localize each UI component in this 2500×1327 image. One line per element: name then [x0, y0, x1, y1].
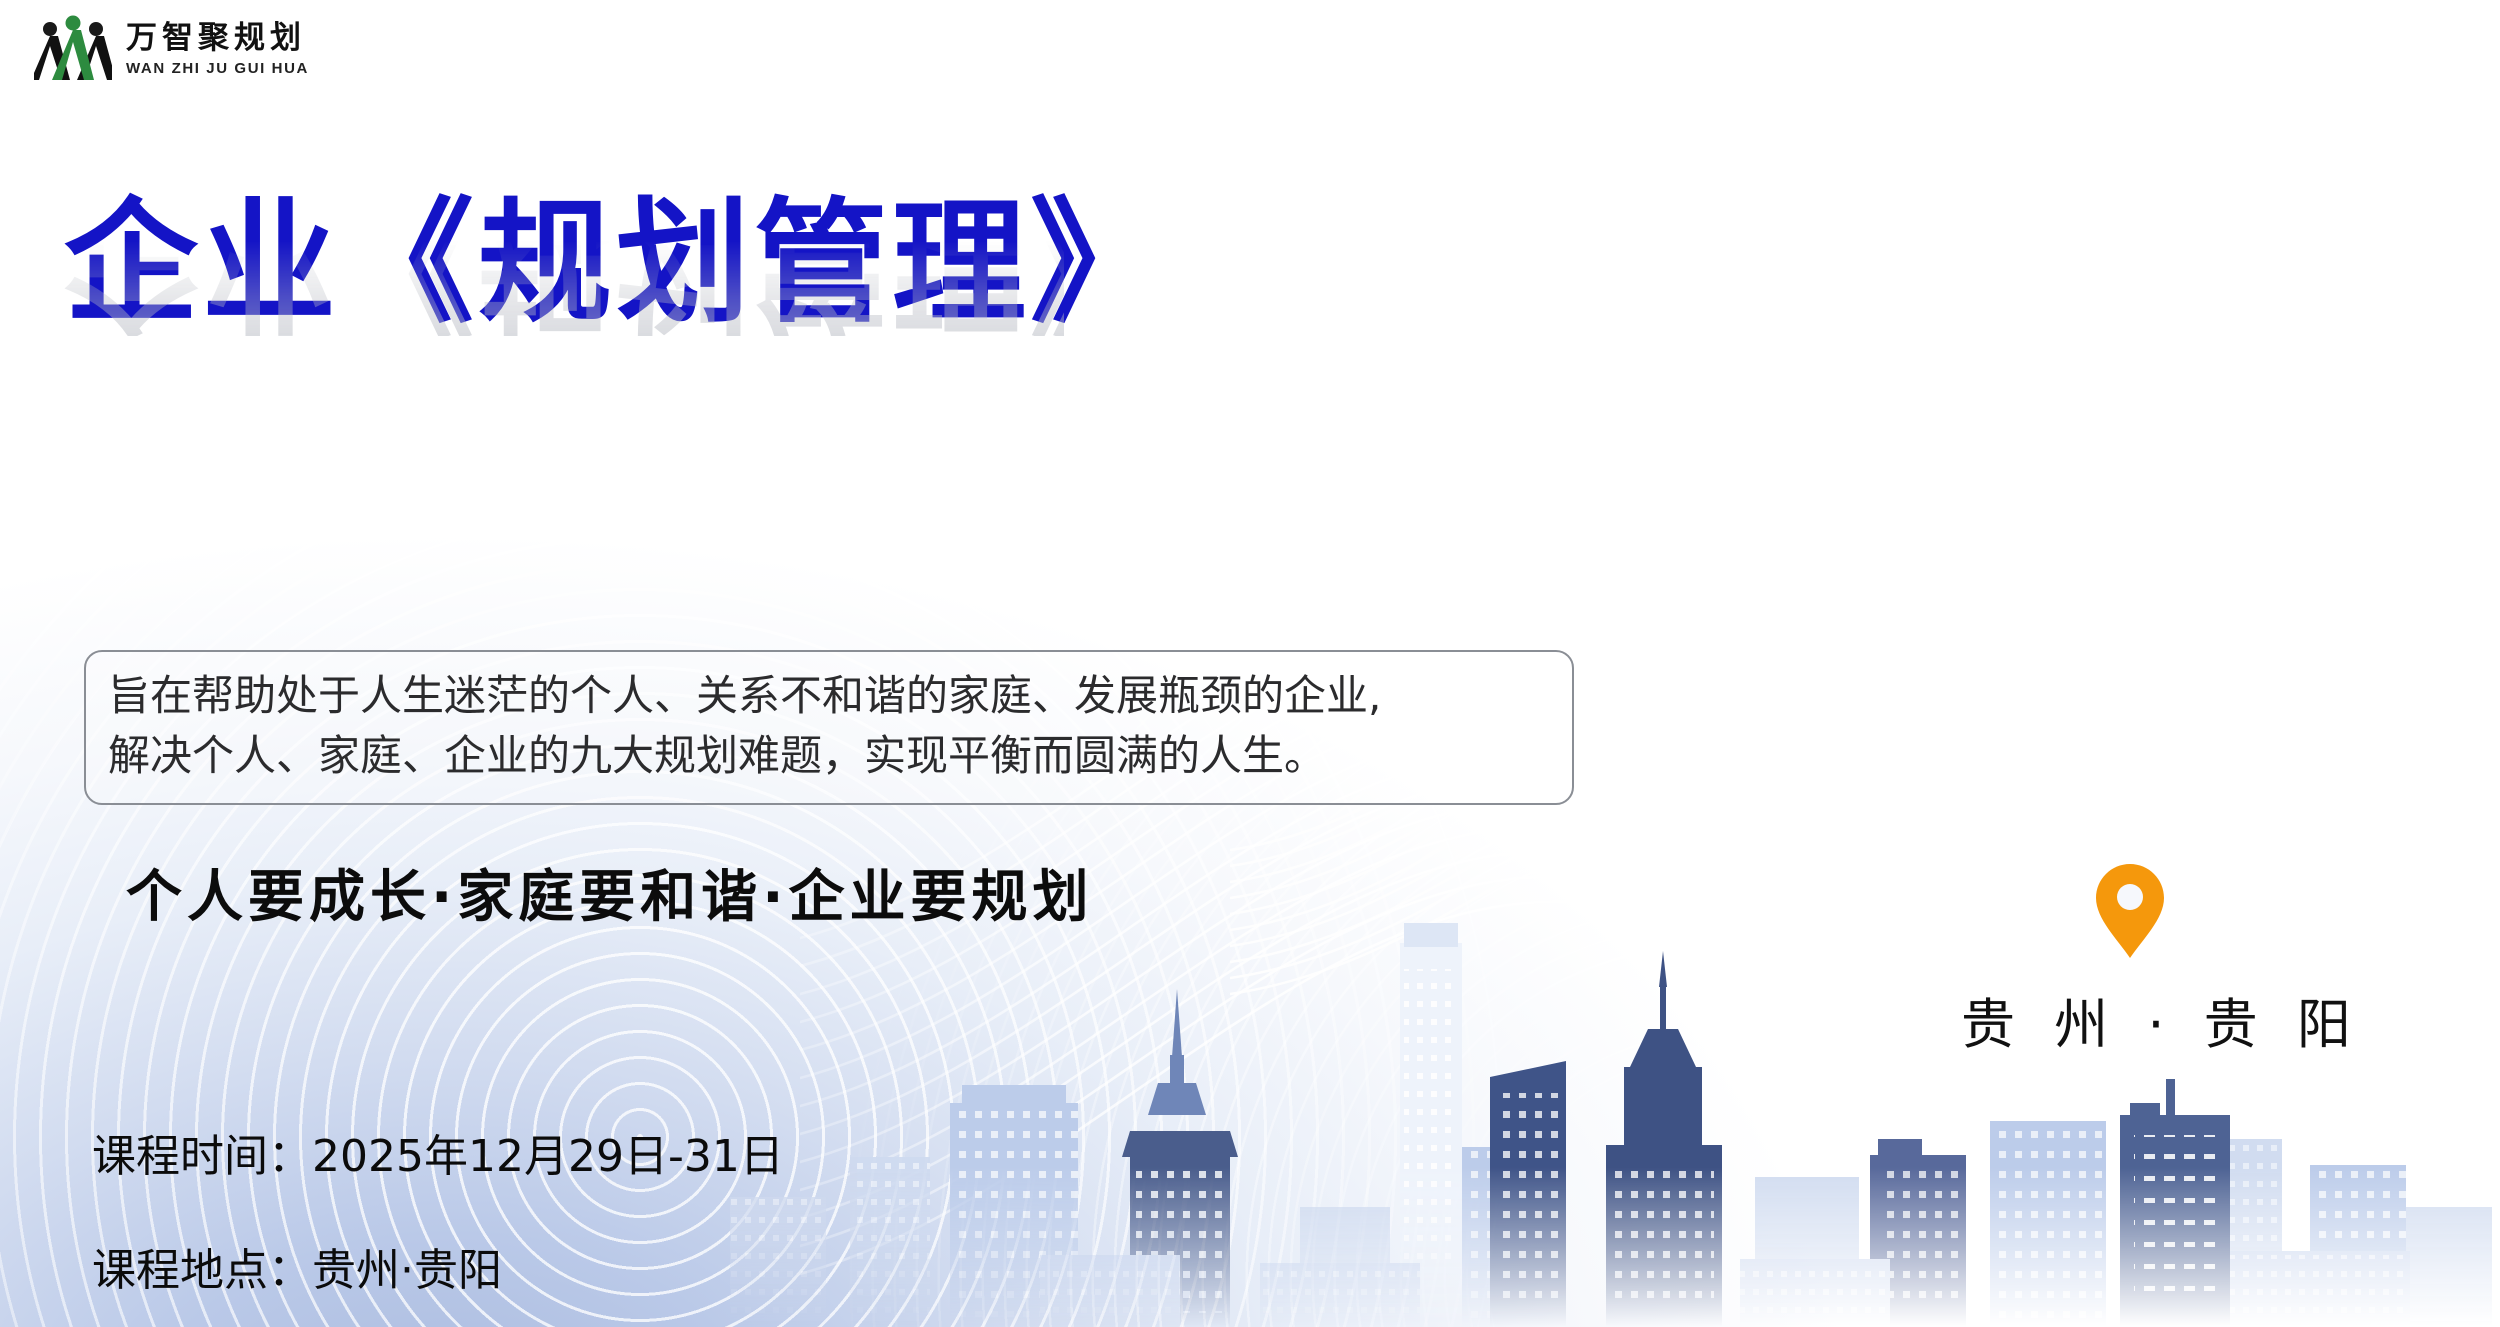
slogan-text: 个人要成长·家庭要和谐·企业要规划: [126, 852, 1094, 933]
location-label: 贵 州 · 贵 阳: [1950, 980, 2310, 1059]
course-info-block: 课程时间：2025年12月29日-31日 课程地点：贵州·贵阳: [92, 1120, 784, 1298]
description-line-1: 旨在帮助处于人生迷茫的个人、关系不和谐的家庭、发展瓶颈的企业,: [108, 666, 1550, 726]
page-title-reflection: 企业《规划管理》: [64, 232, 1064, 336]
brand-logo-text: 万智聚规划 WAN ZHI JU GUI HUA: [126, 23, 309, 76]
location-block: 贵 州 · 贵 阳: [1950, 862, 2310, 1059]
brand-name-cn: 万智聚规划: [126, 23, 309, 54]
three-people-logo-icon: [34, 14, 112, 84]
concentric-dot-arcs-secondary: [760, 327, 2500, 1327]
hero-title-block: 企业《规划管理》 企业《规划管理》: [64, 196, 1064, 440]
course-place-row: 课程地点：贵州·贵阳: [92, 1234, 784, 1298]
course-time-row: 课程时间：2025年12月29日-31日: [92, 1120, 784, 1184]
brand-logo: 万智聚规划 WAN ZHI JU GUI HUA: [34, 14, 309, 84]
brand-name-pinyin: WAN ZHI JU GUI HUA: [126, 61, 309, 76]
map-pin-icon: [2093, 862, 2167, 960]
poster-canvas: 万智聚规划 WAN ZHI JU GUI HUA 企业《规划管理》 企业《规划管…: [0, 0, 2500, 1327]
description-line-2: 解决个人、家庭、企业的九大规划难题，实现平衡而圆满的人生。: [108, 726, 1550, 786]
description-box: 旨在帮助处于人生迷茫的个人、关系不和谐的家庭、发展瓶颈的企业, 解决个人、家庭、…: [84, 650, 1574, 805]
